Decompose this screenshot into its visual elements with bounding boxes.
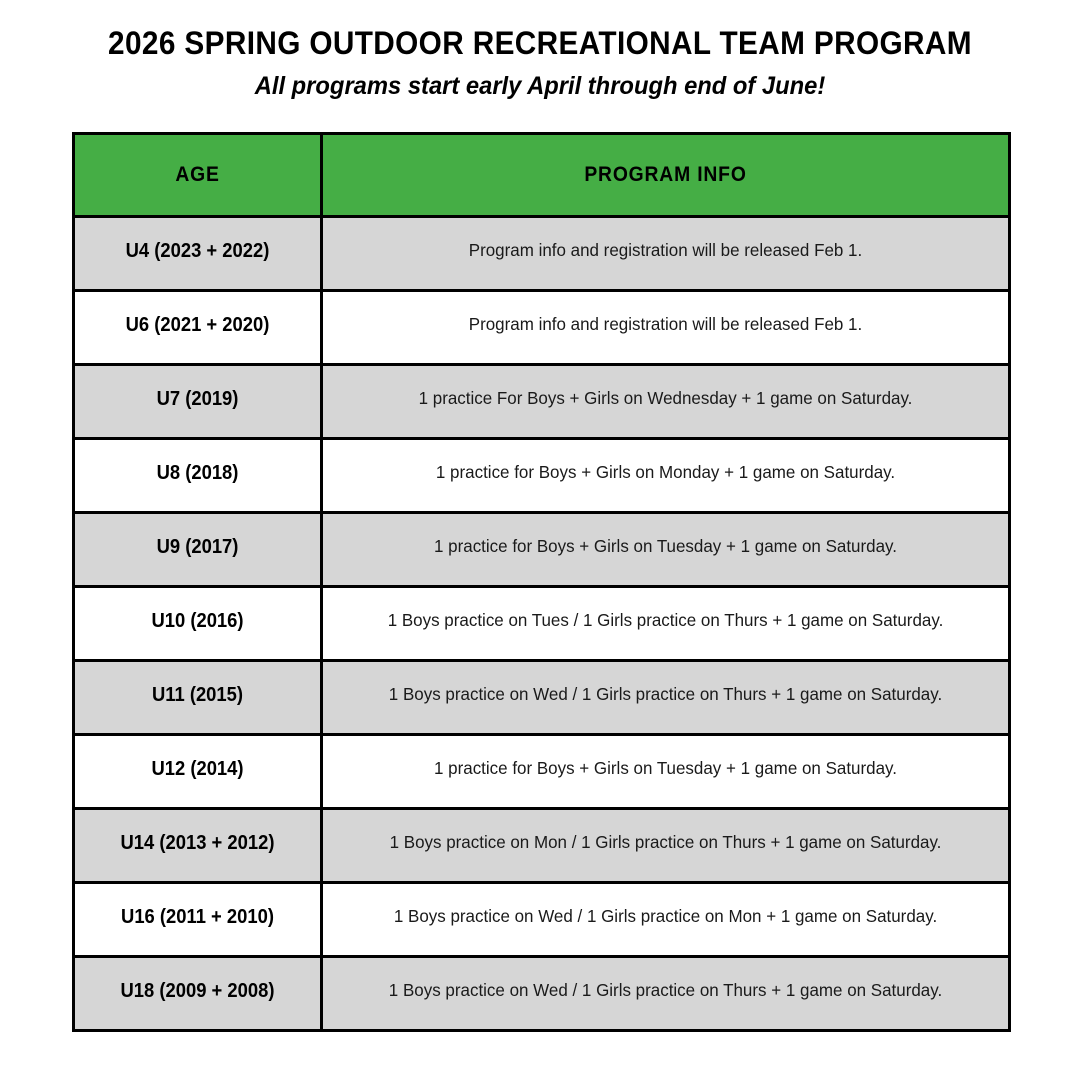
table-row: U11 (2015)1 Boys practice on Wed / 1 Gir… <box>74 661 1010 735</box>
program-info-cell: 1 practice for Boys + Girls on Monday + … <box>322 439 1010 513</box>
age-cell: U9 (2017) <box>74 513 322 587</box>
table-row: U8 (2018)1 practice for Boys + Girls on … <box>74 439 1010 513</box>
age-label: U10 (2016) <box>85 610 310 633</box>
age-cell: U12 (2014) <box>74 735 322 809</box>
table-row: U4 (2023 + 2022)Program info and registr… <box>74 217 1010 291</box>
program-info-text: 1 Boys practice on Wed / 1 Girls practic… <box>333 684 997 705</box>
age-label: U11 (2015) <box>85 684 310 707</box>
age-label: U9 (2017) <box>85 536 310 559</box>
program-info-text: 1 practice for Boys + Girls on Monday + … <box>333 462 997 483</box>
age-cell: U10 (2016) <box>74 587 322 661</box>
program-info-text: 1 practice for Boys + Girls on Tuesday +… <box>333 536 997 557</box>
table-header: AGE PROGRAM INFO <box>74 134 1010 217</box>
table-row: U18 (2009 + 2008)1 Boys practice on Wed … <box>74 957 1010 1031</box>
age-cell: U8 (2018) <box>74 439 322 513</box>
age-label: U18 (2009 + 2008) <box>85 980 310 1003</box>
program-info-text: 1 Boys practice on Tues / 1 Girls practi… <box>333 610 997 631</box>
table-row: U14 (2013 + 2012)1 Boys practice on Mon … <box>74 809 1010 883</box>
program-info-cell: 1 Boys practice on Tues / 1 Girls practi… <box>322 587 1010 661</box>
column-header-program-info-label: PROGRAM INFO <box>350 163 980 187</box>
table-row: U9 (2017)1 practice for Boys + Girls on … <box>74 513 1010 587</box>
age-label: U4 (2023 + 2022) <box>85 240 310 263</box>
program-info-cell: 1 practice for Boys + Girls on Tuesday +… <box>322 735 1010 809</box>
column-header-program-info: PROGRAM INFO <box>322 134 1010 217</box>
column-header-age: AGE <box>74 134 322 217</box>
age-cell: U18 (2009 + 2008) <box>74 957 322 1031</box>
program-table: AGE PROGRAM INFO U4 (2023 + 2022)Program… <box>72 132 1011 1032</box>
table-body: U4 (2023 + 2022)Program info and registr… <box>74 217 1010 1031</box>
age-cell: U7 (2019) <box>74 365 322 439</box>
table-row: U10 (2016)1 Boys practice on Tues / 1 Gi… <box>74 587 1010 661</box>
program-info-text: 1 practice For Boys + Girls on Wednesday… <box>333 388 997 409</box>
age-label: U16 (2011 + 2010) <box>85 906 310 929</box>
page-title: 2026 SPRING OUTDOOR RECREATIONAL TEAM PR… <box>38 26 1042 61</box>
program-info-cell: Program info and registration will be re… <box>322 217 1010 291</box>
age-label: U7 (2019) <box>85 388 310 411</box>
age-cell: U6 (2021 + 2020) <box>74 291 322 365</box>
table-row: U7 (2019)1 practice For Boys + Girls on … <box>74 365 1010 439</box>
program-info-text: 1 Boys practice on Mon / 1 Girls practic… <box>333 832 997 853</box>
program-info-text: 1 practice for Boys + Girls on Tuesday +… <box>333 758 997 779</box>
table-row: U12 (2014)1 practice for Boys + Girls on… <box>74 735 1010 809</box>
age-cell: U4 (2023 + 2022) <box>74 217 322 291</box>
age-label: U8 (2018) <box>85 462 310 485</box>
program-info-cell: 1 Boys practice on Wed / 1 Girls practic… <box>322 957 1010 1031</box>
age-label: U6 (2021 + 2020) <box>85 314 310 337</box>
age-cell: U14 (2013 + 2012) <box>74 809 322 883</box>
program-flyer-page: 2026 SPRING OUTDOOR RECREATIONAL TEAM PR… <box>0 0 1080 1080</box>
table-row: U16 (2011 + 2010)1 Boys practice on Wed … <box>74 883 1010 957</box>
heading-block: 2026 SPRING OUTDOOR RECREATIONAL TEAM PR… <box>0 0 1080 101</box>
table-row: U6 (2021 + 2020)Program info and registr… <box>74 291 1010 365</box>
program-info-text: 1 Boys practice on Wed / 1 Girls practic… <box>333 980 997 1001</box>
program-info-text: Program info and registration will be re… <box>333 314 997 335</box>
age-cell: U11 (2015) <box>74 661 322 735</box>
age-cell: U16 (2011 + 2010) <box>74 883 322 957</box>
page-subtitle: All programs start early April through e… <box>27 61 1053 101</box>
program-info-cell: 1 practice for Boys + Girls on Tuesday +… <box>322 513 1010 587</box>
program-info-text: Program info and registration will be re… <box>333 240 997 261</box>
program-info-text: 1 Boys practice on Wed / 1 Girls practic… <box>333 906 997 927</box>
program-info-cell: Program info and registration will be re… <box>322 291 1010 365</box>
program-info-cell: 1 Boys practice on Wed / 1 Girls practic… <box>322 661 1010 735</box>
program-info-cell: 1 Boys practice on Mon / 1 Girls practic… <box>322 809 1010 883</box>
table-header-row: AGE PROGRAM INFO <box>74 134 1010 217</box>
age-label: U14 (2013 + 2012) <box>85 832 310 855</box>
column-header-age-label: AGE <box>85 163 310 187</box>
program-table-wrapper: AGE PROGRAM INFO U4 (2023 + 2022)Program… <box>72 132 1008 1032</box>
age-label: U12 (2014) <box>85 758 310 781</box>
program-info-cell: 1 practice For Boys + Girls on Wednesday… <box>322 365 1010 439</box>
program-info-cell: 1 Boys practice on Wed / 1 Girls practic… <box>322 883 1010 957</box>
